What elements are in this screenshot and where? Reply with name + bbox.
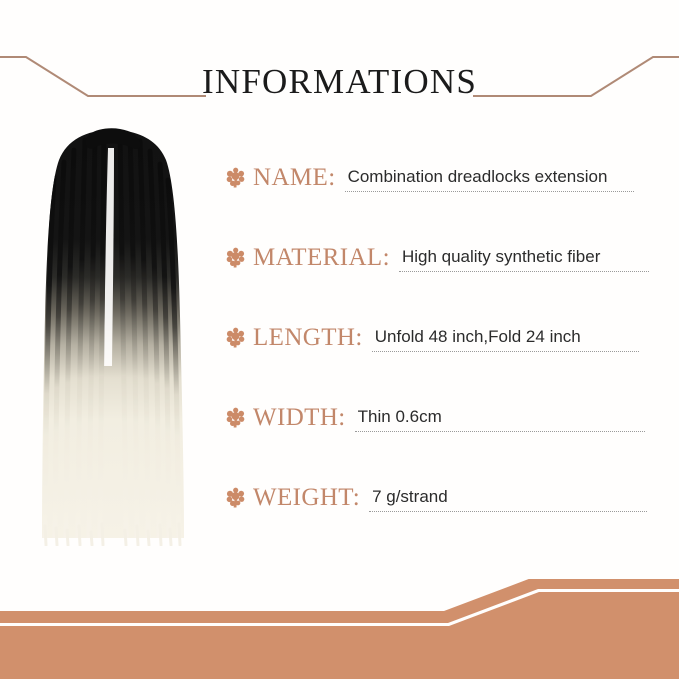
flower-icon [226,247,245,269]
spec-row-material: MATERIAL: High quality synthetic fiber [226,243,646,323]
spec-label: MATERIAL: [253,244,390,272]
bottom-border-decoration [0,579,679,679]
spec-value-field: Combination dreadlocks extension [345,167,646,192]
flower-icon [226,487,245,509]
page-title: INFORMATIONS [0,62,679,102]
bottom-solid-band [0,592,679,679]
spec-label: WEIGHT: [253,484,360,512]
spec-value-field: 7 g/strand [369,487,646,512]
spec-value: Unfold 48 inch,Fold 24 inch [372,327,646,352]
spec-value-field: Unfold 48 inch,Fold 24 inch [372,327,646,352]
spec-value: 7 g/strand [369,487,646,512]
spec-underline [369,511,647,512]
spec-value-field: Thin 0.6cm [355,407,646,432]
spec-value: High quality synthetic fiber [399,247,646,272]
spec-label: NAME: [253,164,336,192]
spec-row-length: LENGTH: Unfold 48 inch,Fold 24 inch [226,323,646,403]
spec-value: Thin 0.6cm [355,407,646,432]
spec-row-weight: WEIGHT: 7 g/strand [226,483,646,563]
spec-label: WIDTH: [253,404,346,432]
product-image [34,126,190,546]
flower-icon [226,167,245,189]
specification-list: NAME: Combination dreadlocks extension [226,163,646,563]
spec-underline [372,351,639,352]
spec-label: LENGTH: [253,324,363,352]
spec-value-field: High quality synthetic fiber [399,247,646,272]
spec-underline [399,271,649,272]
spec-underline [355,431,645,432]
spec-underline [345,191,634,192]
flower-icon [226,327,245,349]
spec-value: Combination dreadlocks extension [345,167,646,192]
spec-row-name: NAME: Combination dreadlocks extension [226,163,646,243]
flower-icon [226,407,245,429]
product-info-card: INFORMATIONS [0,0,679,679]
spec-row-width: WIDTH: Thin 0.6cm [226,403,646,483]
